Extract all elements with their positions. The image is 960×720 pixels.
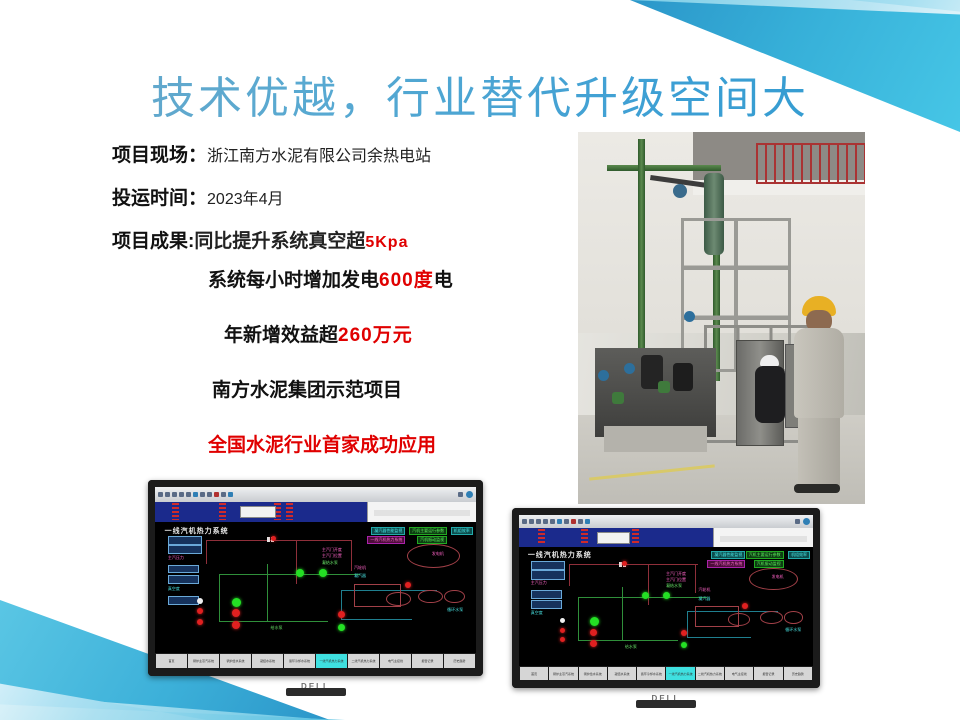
- scada-indicator-red-1: [271, 536, 276, 541]
- scada-indicator-green-3: [232, 598, 241, 607]
- toolbar-stop-icon[interactable]: [214, 492, 219, 497]
- alarm2-stripe-2: [581, 529, 588, 545]
- photo-worker-body-dark: [755, 366, 785, 423]
- toolbar-right-group-2[interactable]: [795, 518, 810, 525]
- scada-label-condenser-1: 凝汽器: [354, 574, 366, 578]
- monitor-stand-1: [286, 688, 346, 696]
- scada-label-generator-1: 发电机: [432, 552, 444, 556]
- fact-label-commission-date: 投运时间：: [112, 188, 207, 209]
- photo-worker-standing: [790, 296, 848, 493]
- status-row-1: [374, 510, 469, 516]
- scada-tab-condensate-1[interactable]: 凝结水系统: [252, 654, 283, 668]
- scada-value-box-a1: [168, 536, 202, 545]
- toolbar2-paste-icon[interactable]: [564, 519, 569, 524]
- fact-row-commission-date: 投运时间：2023年4月: [112, 183, 582, 210]
- scada-tab-alarms-1[interactable]: 报警记录: [412, 654, 443, 668]
- page-title: 技术优越，行业替代升级空间大: [0, 62, 960, 126]
- scada-tag-system-1[interactable]: 一线汽机热力系统: [367, 536, 405, 544]
- scada-titlebar-1: [155, 502, 476, 522]
- scada-legend-valve-pos-2: 主汽门位置: [666, 578, 686, 582]
- scada2-pipe-green-mid: [622, 587, 623, 640]
- photo-pump-2: [673, 363, 693, 391]
- monitor-stand-2: [636, 700, 696, 708]
- claim-benefit-highlight: 260万元: [338, 325, 413, 346]
- scada2-indicator-red-1: [622, 561, 627, 566]
- photo-valve-handwheel-2: [624, 363, 635, 374]
- fact-row-results: 项目成果:同比提升系统真空超5Kpa: [112, 226, 582, 253]
- fact-value-results: 同比提升系统真空超: [194, 231, 365, 252]
- scada-tab-cooling-2[interactable]: 循环冷却水系统: [637, 667, 665, 680]
- toolbar-print-icon[interactable]: [179, 492, 184, 497]
- scada-pump-symbol-1: [418, 590, 442, 604]
- monitor-screen-2: 一线汽机热力系统 凝汽器性能监视 汽机主要运行参数 机组效率 一线汽机热力系统 …: [519, 515, 813, 681]
- scada-pipe-branch-2: [351, 540, 352, 571]
- claim-benefit-text: 年新增效益超: [224, 325, 338, 346]
- photo-red-railing: [756, 143, 865, 184]
- scada2-indicator-green-3: [590, 617, 599, 626]
- scada2-indicator-red-4: [590, 629, 597, 636]
- monitor-photo-secondary: 一线汽机热力系统 凝汽器性能监视 汽机主要运行参数 机组效率 一线汽机热力系统 …: [512, 508, 820, 688]
- photo-horizontal-pipe: [607, 165, 722, 171]
- toolbar-cut-icon[interactable]: [186, 492, 191, 497]
- scada-label-generator-2: 发电机: [772, 575, 784, 579]
- claim-power-increase: 系统每小时增加发电600度电: [208, 265, 580, 292]
- toolbar-window-icon[interactable]: [458, 492, 463, 497]
- alarm-stripe-2: [219, 503, 226, 521]
- scada-indicator-green-4: [338, 624, 345, 631]
- scada-status-panel-1: [367, 502, 476, 522]
- scada2-pipe-green-left: [578, 597, 579, 640]
- scada-pipe-green-mid: [267, 564, 268, 622]
- fact-highlight-vacuum: 5Kpa: [365, 234, 408, 251]
- toolbar-copy-icon[interactable]: [193, 492, 198, 497]
- scada-indicator-green-1: [296, 569, 304, 577]
- scada-pipe-branch-1: [296, 540, 297, 585]
- claim-power-tail: 电: [434, 270, 453, 291]
- scada2-value-box-a3: [531, 590, 562, 599]
- scada-value-box-a5: [168, 596, 199, 605]
- scada-pipe-green-main: [219, 574, 360, 575]
- scada-value-box-a4: [168, 575, 199, 584]
- scada-label-temp-1: 主汽压力: [168, 556, 184, 560]
- scada-indicator-white-1: [197, 598, 203, 604]
- toolbar-save-icon[interactable]: [172, 492, 177, 497]
- scada2-pipe-branch-2: [695, 564, 696, 593]
- toolbar-zoom-icon[interactable]: [221, 492, 226, 497]
- scada2-pump-symbol-1: [760, 611, 783, 624]
- scada2-pump-symbol-2: [784, 611, 804, 624]
- scada-indicator-red-5: [232, 621, 240, 629]
- scada-diagram-1: 一线汽机热力系统 凝汽器性能监视 汽机主要运行参数 机组效率 一线汽机热力系统 …: [155, 522, 476, 653]
- scada-label-turbine-1: 汽轮机: [354, 566, 366, 570]
- scada-tag-system-2[interactable]: 一线汽机热力系统: [707, 560, 745, 568]
- scada-tag-condenser-2[interactable]: 凝汽器性能监视: [711, 551, 745, 559]
- scada-label-feedpump-2: 给水泵: [625, 645, 637, 649]
- alarm2-stripe-1: [538, 529, 545, 545]
- scada-label-condenser-2: 凝汽器: [698, 597, 710, 601]
- scada-pipe-green-left: [219, 574, 220, 621]
- toolbar2-print-icon[interactable]: [543, 519, 548, 524]
- scada-legend-condpump-2: 凝结水泵: [666, 584, 682, 588]
- scada-indicator-red-2: [197, 608, 203, 614]
- scada-tab-trends-1[interactable]: 历史趋势: [444, 654, 475, 668]
- photo-worker-legs: [798, 418, 840, 489]
- scada2-indicator-white-1: [560, 618, 565, 623]
- claim-power-highlight: 600度: [379, 270, 434, 291]
- scada-tab-electrical-1[interactable]: 电气主接线: [380, 654, 411, 668]
- scada-pipe-cyan-3: [341, 619, 412, 620]
- status2-row-1: [720, 536, 807, 541]
- toolbar2-help-icon[interactable]: [803, 518, 810, 525]
- scada-tabbar-1[interactable]: 首页 锅炉主蒸汽系统 锅炉给水系统 凝结水系统 循环冷却水系统 一线汽机热力系统…: [155, 653, 476, 669]
- scada-legend-valve-open-1: 主汽门开度: [322, 548, 342, 552]
- toolbar2-copy-icon[interactable]: [557, 519, 562, 524]
- scada2-value-box-a4: [531, 600, 562, 609]
- toolbar-settings-icon[interactable]: [228, 492, 233, 497]
- fact-label-site: 项目现场：: [112, 145, 207, 166]
- monitor-screen-1: 一线汽机热力系统 凝汽器性能监视 汽机主要运行参数 机组效率 一线汽机热力系统 …: [155, 487, 476, 669]
- photo-valve-handwheel-3: [684, 311, 695, 322]
- scada-tab-home-1[interactable]: 首页: [156, 654, 187, 668]
- scada-indicator-red-6: [338, 611, 345, 618]
- scada-label-vacuum-1: 真空度: [168, 587, 180, 591]
- scada-pump-symbol-3: [386, 592, 410, 606]
- scada-indicator-red-3: [197, 619, 203, 625]
- toolbar-new-icon[interactable]: [158, 492, 163, 497]
- scada2-pipe-steam-main: [569, 564, 698, 565]
- monitor-photo-primary: 一线汽机热力系统 凝汽器性能监视 汽机主要运行参数 机组效率 一线汽机热力系统 …: [148, 480, 483, 676]
- scada-tab-turbine2-2[interactable]: 二线汽机热力系统: [696, 667, 724, 680]
- toolbar-right-group-1[interactable]: [458, 491, 473, 498]
- presentation-slide: 技术优越，行业替代升级空间大 项目现场：浙江南方水泥有限公司余热电站 投运时间：…: [0, 0, 960, 720]
- scada-generator-symbol-1: [407, 544, 460, 568]
- scada2-pipe-cyan-2: [687, 611, 688, 637]
- photo-worker-crouching: [755, 355, 785, 437]
- scada-indicator-red-7: [405, 582, 411, 588]
- scada-tab-feedwater-1[interactable]: 锅炉给水系统: [220, 654, 251, 668]
- scada-label-vacuum-2: 真空度: [531, 611, 543, 615]
- scada-tab-condensate-2[interactable]: 凝结水系统: [608, 667, 636, 680]
- scada-tab-turbine2-1[interactable]: 二线汽机热力系统: [348, 654, 379, 668]
- scada-status-panel-2: [713, 528, 813, 546]
- alarm-stripe-1: [172, 503, 179, 521]
- scada2-pipe-steam-down: [569, 564, 570, 586]
- scada2-indicator-red-5: [590, 640, 597, 647]
- scada-tag-efficiency-2[interactable]: 机组效率: [788, 551, 810, 559]
- scada2-pump-symbol-3: [728, 613, 751, 626]
- scada-legend-condpump-1: 凝结水泵: [322, 561, 338, 565]
- fact-row-site: 项目现场：浙江南方水泥有限公司余热电站: [112, 140, 582, 167]
- alarm-search-field[interactable]: [240, 506, 276, 518]
- scada2-indicator-red-6: [681, 630, 687, 636]
- scada-legend-valve-pos-1: 主汽门位置: [322, 554, 342, 558]
- photo-worker-body: [794, 328, 844, 419]
- scada-tabbar-2[interactable]: 首页 锅炉主蒸汽系统 锅炉给水系统 凝结水系统 循环冷却水系统 一线汽机热力系统…: [519, 666, 813, 681]
- scada-indicator-red-4: [232, 609, 240, 617]
- project-claims: 系统每小时增加发电600度电 年新增效益超260万元 南方水泥集团示范项目 全国…: [200, 265, 580, 485]
- fact-value-commission-date: 2023年4月: [207, 191, 284, 208]
- claim-first-application: 全国水泥行业首家成功应用: [208, 430, 580, 457]
- scada2-pipe-cyan-3: [687, 637, 752, 638]
- toolbar2-new-icon[interactable]: [522, 519, 527, 524]
- scada-tab-boiler-steam-1[interactable]: 锅炉主蒸汽系统: [188, 654, 219, 668]
- toolbar2-window-icon[interactable]: [795, 519, 800, 524]
- claim-demonstration-project: 南方水泥集团示范项目: [212, 375, 580, 402]
- scada-label-circpump-2: 循环水泵: [785, 628, 801, 632]
- fact-value-site: 浙江南方水泥有限公司余热电站: [207, 148, 431, 165]
- scada-toolbar-1[interactable]: [155, 487, 476, 502]
- scada-pump-symbol-2: [444, 590, 465, 604]
- toolbar2-open-icon[interactable]: [529, 519, 534, 524]
- scada-alarm-banner-1: [155, 502, 367, 522]
- plant-site-photo: [578, 132, 865, 504]
- scada2-value-box-a1: [531, 561, 565, 570]
- claim-power-text: 系统每小时增加发电: [208, 270, 379, 291]
- photo-valve-green-2: [658, 381, 670, 393]
- scada-label-feedpump-1: 给水泵: [271, 626, 283, 630]
- photo-valve-green-1: [612, 392, 624, 404]
- fact-label-results: 项目成果:: [112, 231, 194, 252]
- scada-tab-electrical-2[interactable]: 电气主接线: [725, 667, 753, 680]
- scada-label-temp-2: 主汽压力: [531, 581, 547, 585]
- scada-tab-boiler-steam-2[interactable]: 锅炉主蒸汽系统: [549, 667, 577, 680]
- scada-tag-efficiency-1[interactable]: 机组效率: [451, 527, 473, 535]
- toolbar-open-icon[interactable]: [165, 492, 170, 497]
- scada-tab-feedwater-2[interactable]: 锅炉给水系统: [579, 667, 607, 680]
- scada-diagram-heading-1: 一线汽机热力系统: [165, 526, 229, 536]
- scada-label-circpump-1: 循环水泵: [447, 608, 463, 612]
- scada-diagram-heading-2: 一线汽机热力系统: [528, 550, 592, 560]
- scada2-pipe-branch-1: [648, 564, 649, 605]
- scada-alarm-banner-2: [519, 528, 713, 546]
- claim-annual-benefit: 年新增效益超260万元: [224, 320, 580, 347]
- toolbar-undo-icon[interactable]: [207, 492, 212, 497]
- toolbar2-save-icon[interactable]: [536, 519, 541, 524]
- toolbar2-stop-icon[interactable]: [571, 519, 576, 524]
- scada-tab-cooling-1[interactable]: 循环冷却水系统: [284, 654, 315, 668]
- scada-tab-turbine1-2[interactable]: 一线汽机热力系统: [666, 667, 694, 680]
- scada-tab-trends-2[interactable]: 历史趋势: [784, 667, 812, 680]
- scada-label-turbine-2: 汽轮机: [698, 588, 710, 592]
- scada-tab-turbine1-1[interactable]: 一线汽机热力系统: [316, 654, 347, 668]
- toolbar-paste-icon[interactable]: [200, 492, 205, 497]
- scada2-value-box-a2: [531, 570, 565, 579]
- scada-tab-home-2[interactable]: 首页: [520, 667, 548, 680]
- scada-diagram-2: 一线汽机热力系统 凝汽器性能监视 汽机主要运行参数 机组效率 一线汽机热力系统 …: [519, 547, 813, 667]
- scada2-indicator-red-3: [560, 637, 565, 642]
- toolbar-help-icon[interactable]: [466, 491, 473, 498]
- scada-tag-vibration-2[interactable]: 汽机振动监视: [754, 560, 784, 568]
- scada-pipe-steam-down: [206, 540, 207, 564]
- scada2-indicator-red-7: [742, 603, 748, 609]
- scada2-indicator-green-2: [663, 592, 670, 599]
- scada-pipe-steam-main: [206, 540, 350, 541]
- toolbar2-cut-icon[interactable]: [550, 519, 555, 524]
- toolbar2-settings-icon[interactable]: [585, 519, 590, 524]
- scada-indicator-green-2: [319, 569, 327, 577]
- scada-tag-vibration-1[interactable]: 汽机振动监视: [417, 536, 447, 544]
- scada-tab-alarms-2[interactable]: 报警记录: [754, 667, 782, 680]
- photo-pump-base: [604, 426, 707, 452]
- toolbar2-zoom-icon[interactable]: [578, 519, 583, 524]
- scada-value-box-a3: [168, 565, 199, 574]
- scada2-indicator-green-4: [681, 642, 687, 648]
- scada-tag-condenser-1[interactable]: 凝汽器性能监视: [371, 527, 405, 535]
- scada-titlebar-2: [519, 528, 813, 546]
- alarm-stripe-4: [286, 503, 293, 521]
- photo-worker-shoes: [794, 484, 840, 493]
- scada-tag-params-1[interactable]: 汽机主要运行参数: [409, 527, 447, 535]
- scada-tag-params-2[interactable]: 汽机主要运行参数: [746, 551, 784, 559]
- scada-legend-valve-open-2: 主汽门开度: [666, 572, 686, 576]
- scada2-indicator-red-2: [560, 628, 565, 633]
- scada-value-box-a2: [168, 545, 202, 554]
- alarm2-stripe-3: [632, 529, 639, 545]
- alarm2-search-field[interactable]: [597, 532, 630, 543]
- project-facts: 项目现场：浙江南方水泥有限公司余热电站 投运时间：2023年4月 项目成果:同比…: [112, 140, 582, 269]
- scada-toolbar-2[interactable]: [519, 515, 813, 528]
- photo-blue-valve: [673, 184, 687, 198]
